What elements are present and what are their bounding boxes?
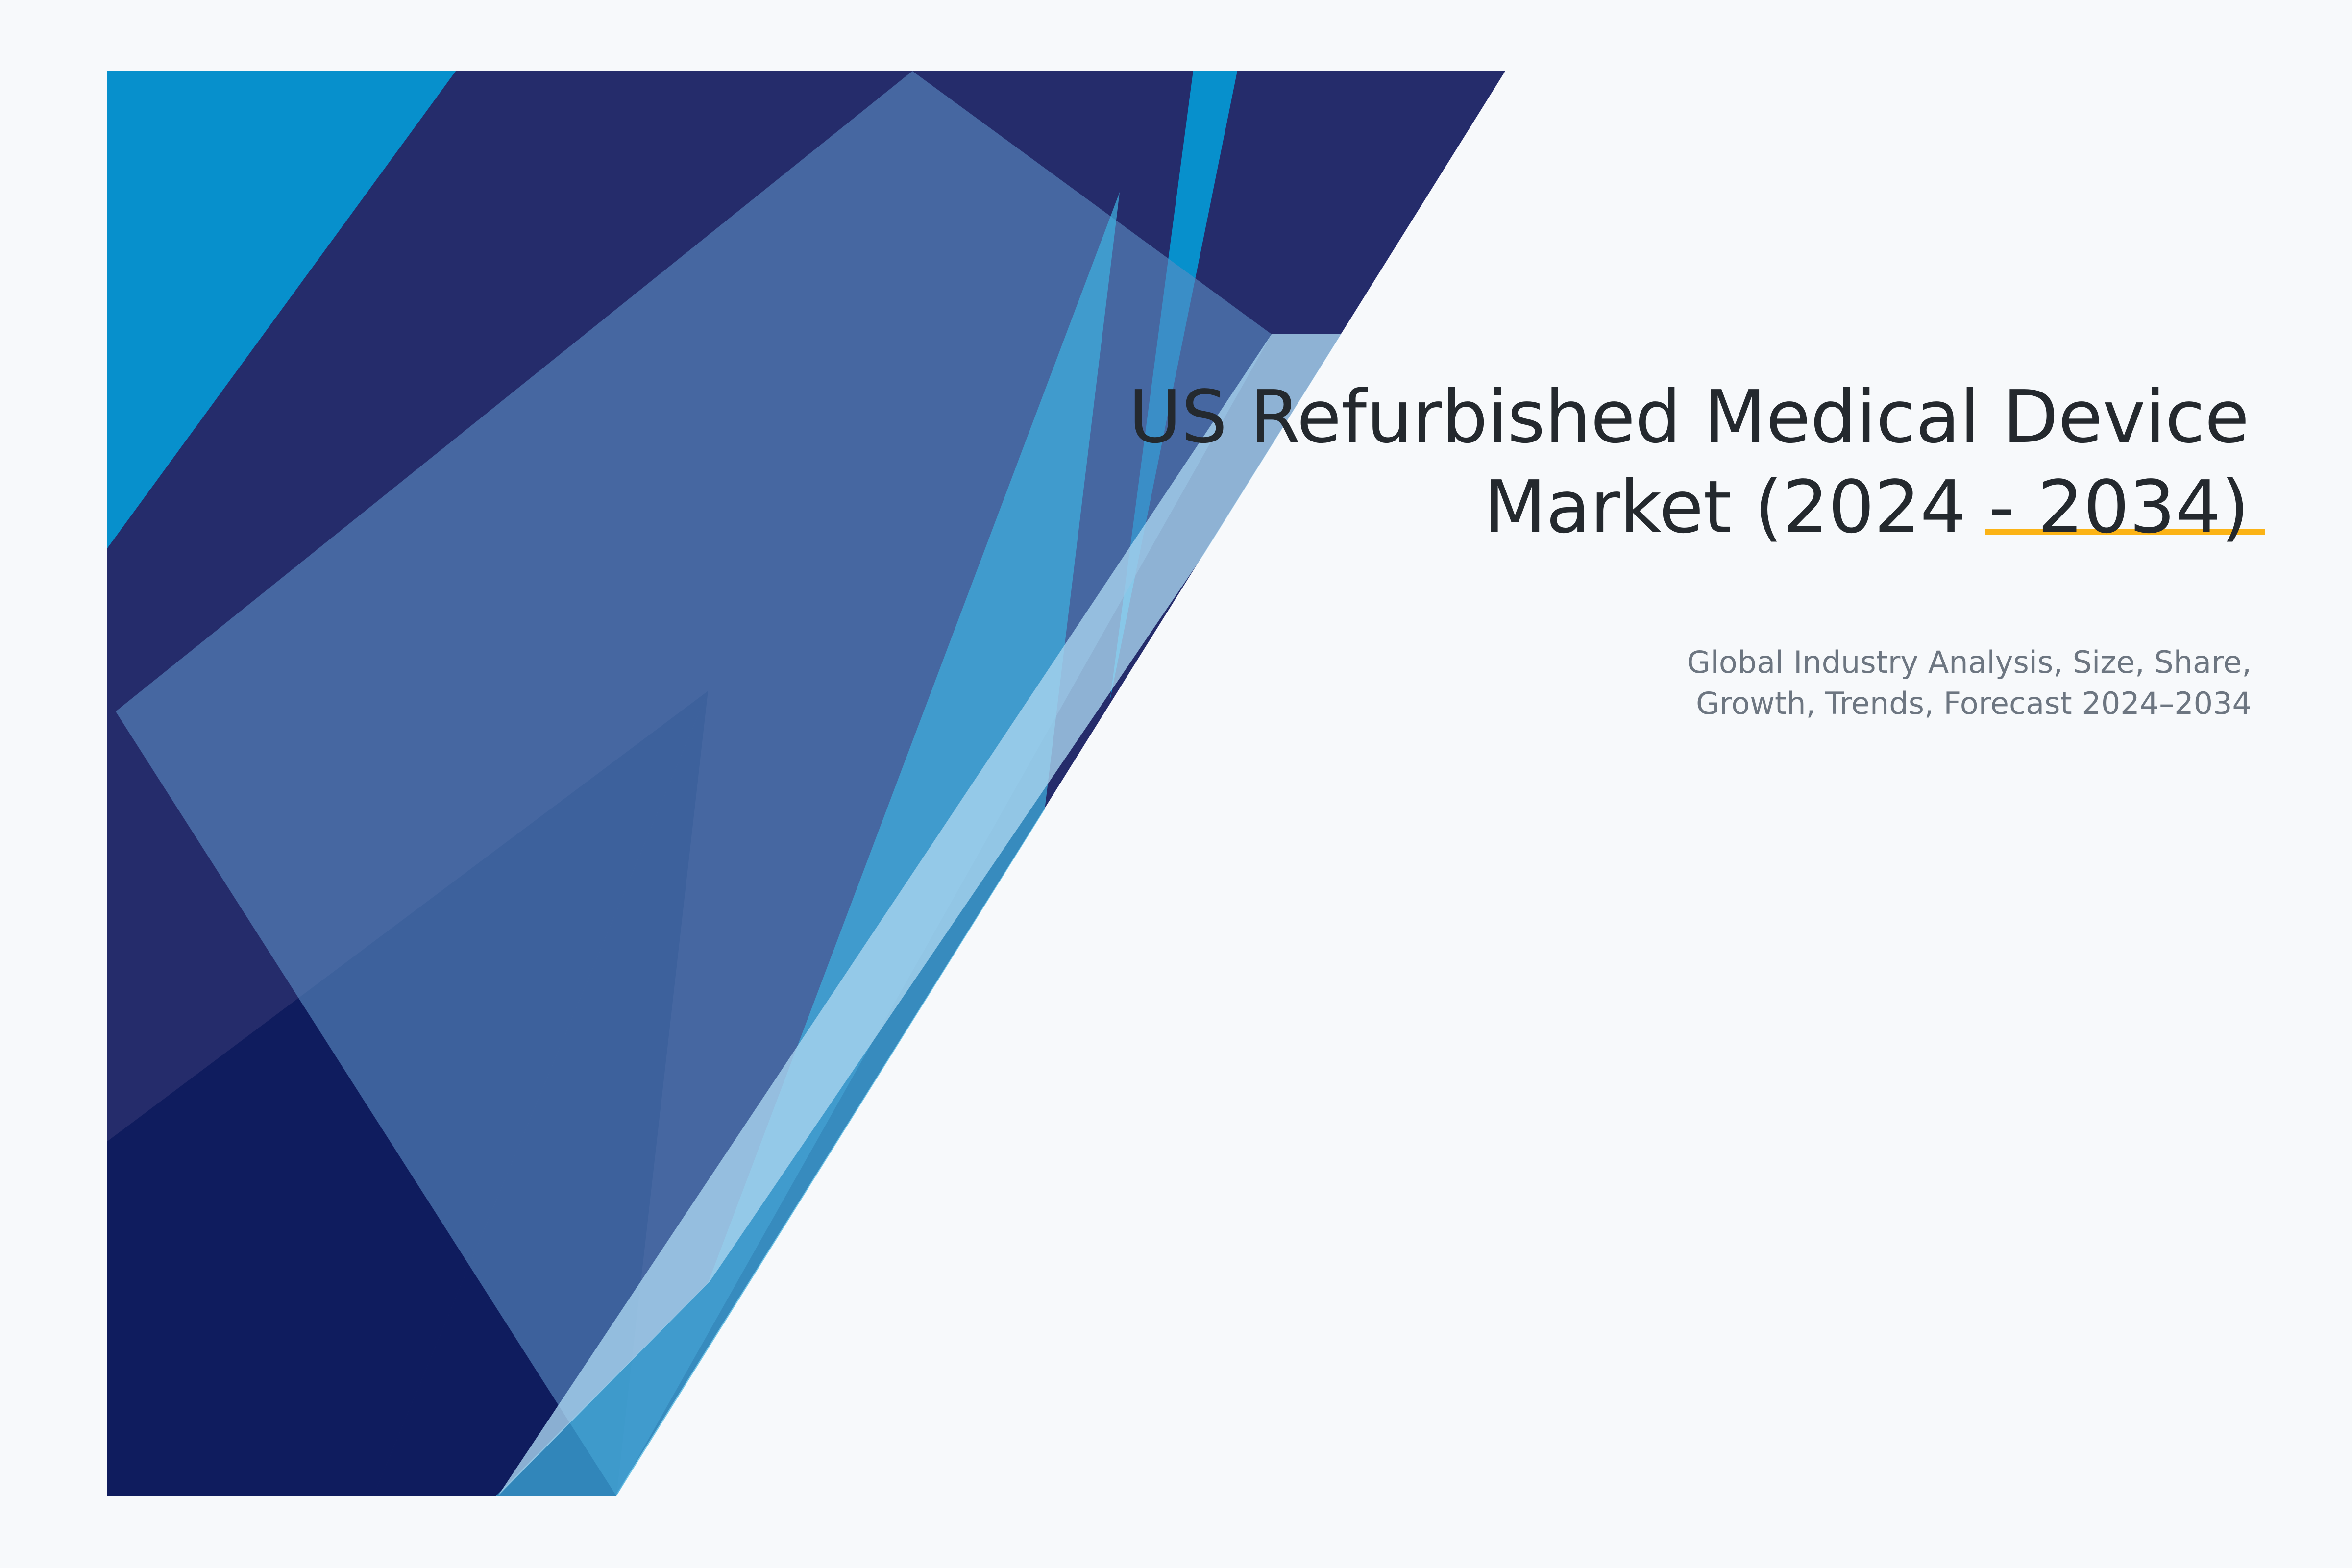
- background-mask-left: [0, 0, 107, 1568]
- cover-page: US Refurbished Medical Device Market (20…: [0, 0, 2352, 1568]
- subtitle-line-1: Global Industry Analysis, Size, Share,: [1539, 642, 2252, 683]
- cover-title-block: US Refurbished Medical Device Market (20…: [1068, 372, 2249, 552]
- abstract-geometric-cover-graphic: [0, 0, 2352, 1568]
- page-title-line-2: Market (2024 - 2034): [1068, 463, 2249, 553]
- background-mask-top: [0, 0, 2352, 71]
- page-title-line-1: US Refurbished Medical Device: [1068, 372, 2249, 463]
- subtitle-line-2: Growth, Trends, Forecast 2024–2034: [1539, 683, 2252, 724]
- background-mask-bottom: [0, 1496, 2352, 1568]
- artwork-layers: [0, 0, 2352, 1568]
- cover-subtitle: Global Industry Analysis, Size, Share, G…: [1539, 642, 2252, 725]
